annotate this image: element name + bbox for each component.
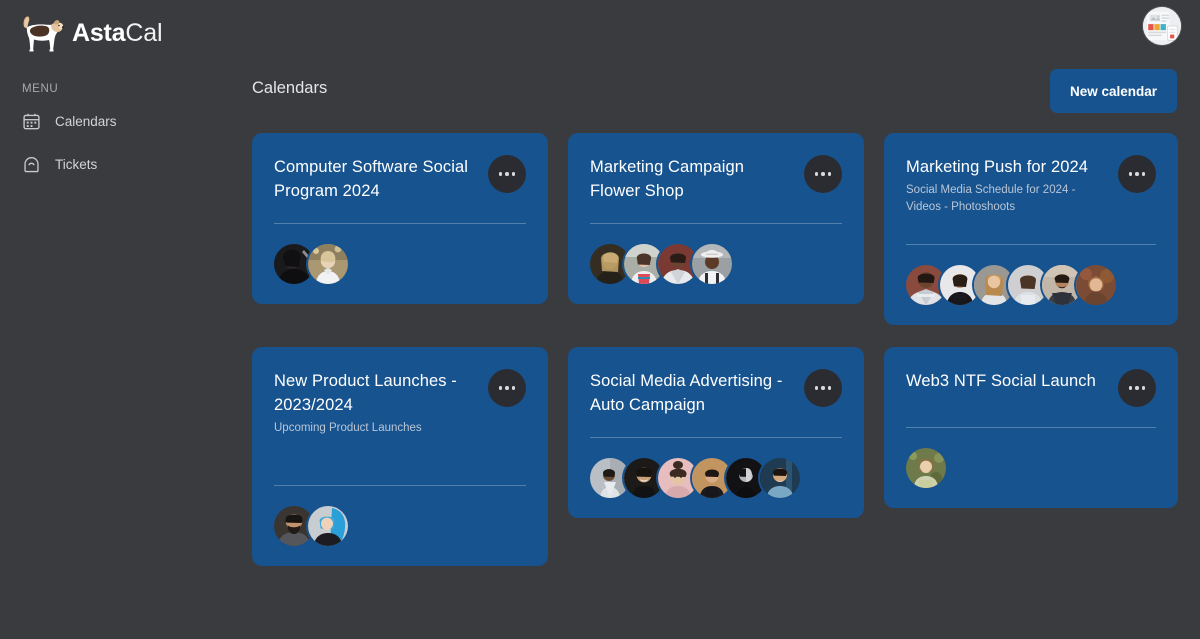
- brand-name-bold: Asta: [72, 19, 125, 47]
- card-title: Marketing Push for 2024: [906, 155, 1108, 179]
- avatar[interactable]: [308, 506, 348, 546]
- more-options-icon: [1135, 386, 1139, 390]
- more-options-icon: [512, 172, 516, 176]
- card-member-avatars: [906, 448, 1156, 488]
- card-more-options-button[interactable]: [1118, 155, 1156, 193]
- more-options-icon: [505, 172, 509, 176]
- brand-name-light: Cal: [125, 19, 162, 47]
- more-options-icon: [505, 386, 509, 390]
- main-header: Calendars New calendar: [232, 60, 1200, 122]
- brand[interactable]: AstaCal: [0, 0, 232, 56]
- more-options-icon: [1135, 172, 1139, 176]
- card-member-avatars: [590, 244, 842, 284]
- ticket-icon: [22, 155, 41, 174]
- card-title: Computer Software Social Program 2024: [274, 155, 478, 203]
- card-subtitle: Social Media Schedule for 2024 - Videos …: [906, 182, 1108, 216]
- calendar-card[interactable]: Web3 NTF Social Launch: [884, 347, 1178, 508]
- avatar[interactable]: [308, 244, 348, 284]
- card-text: Computer Software Social Program 2024: [274, 151, 478, 203]
- card-title: Social Media Advertising - Auto Campaign: [590, 369, 794, 417]
- card-member-avatars: [274, 244, 526, 284]
- more-options-icon: [815, 172, 819, 176]
- new-calendar-button[interactable]: New calendar: [1050, 69, 1177, 113]
- card-header: Marketing Push for 2024 Social Media Sch…: [906, 151, 1156, 216]
- more-options-icon: [828, 172, 832, 176]
- card-text: Marketing Push for 2024 Social Media Sch…: [906, 151, 1108, 216]
- card-text: Social Media Advertising - Auto Campaign: [590, 365, 794, 417]
- avatar[interactable]: [906, 448, 946, 488]
- more-options-icon: [1129, 172, 1133, 176]
- calendar-card-grid: Computer Software Social Program 2024: [252, 133, 1178, 566]
- card-title: New Product Launches - 2023/2024: [274, 369, 478, 417]
- card-title: Web3 NTF Social Launch: [906, 369, 1096, 393]
- more-options-icon: [499, 386, 503, 390]
- card-member-avatars: [906, 265, 1156, 305]
- sidebar-item-calendars-label: Calendars: [55, 114, 117, 129]
- sidebar-item-tickets-label: Tickets: [55, 157, 97, 172]
- calendar-card[interactable]: Computer Software Social Program 2024: [252, 133, 548, 304]
- more-options-icon: [821, 172, 825, 176]
- card-more-options-button[interactable]: [488, 369, 526, 407]
- main-content: Calendars New calendar Computer Software…: [232, 0, 1200, 639]
- avatar[interactable]: [692, 244, 732, 284]
- card-divider: [906, 427, 1156, 428]
- more-options-icon: [499, 172, 503, 176]
- calendar-icon: [22, 112, 41, 131]
- sidebar: AstaCal MENU Calendars Tickets: [0, 0, 232, 639]
- card-divider: [906, 244, 1156, 245]
- sidebar-item-tickets[interactable]: Tickets: [0, 147, 232, 181]
- page-title: Calendars: [252, 79, 327, 98]
- card-text: Web3 NTF Social Launch: [906, 365, 1096, 393]
- brand-name: AstaCal: [72, 19, 162, 48]
- calendar-card[interactable]: Marketing Campaign Flower Shop: [568, 133, 864, 304]
- card-title: Marketing Campaign Flower Shop: [590, 155, 794, 203]
- card-header: Computer Software Social Program 2024: [274, 151, 526, 203]
- more-options-icon: [512, 386, 516, 390]
- card-text: Marketing Campaign Flower Shop: [590, 151, 794, 203]
- card-member-avatars: [590, 458, 842, 498]
- sidebar-item-calendars[interactable]: Calendars: [0, 104, 232, 138]
- more-options-icon: [1129, 386, 1133, 390]
- dog-terrier-logo: [16, 12, 64, 54]
- avatar[interactable]: [760, 458, 800, 498]
- more-options-icon: [1142, 172, 1146, 176]
- card-divider: [274, 485, 526, 486]
- card-subtitle: Upcoming Product Launches: [274, 420, 478, 437]
- card-divider: [274, 223, 526, 224]
- more-options-icon: [815, 386, 819, 390]
- card-header: New Product Launches - 2023/2024 Upcomin…: [274, 365, 526, 437]
- more-options-icon: [828, 386, 832, 390]
- card-more-options-button[interactable]: [1118, 369, 1156, 407]
- card-header: Marketing Campaign Flower Shop: [590, 151, 842, 203]
- calendar-card[interactable]: Social Media Advertising - Auto Campaign: [568, 347, 864, 518]
- more-options-icon: [821, 386, 825, 390]
- card-member-avatars: [274, 506, 526, 546]
- card-more-options-button[interactable]: [804, 155, 842, 193]
- menu-section-label: MENU: [22, 83, 232, 95]
- card-more-options-button[interactable]: [488, 155, 526, 193]
- avatar[interactable]: [1076, 265, 1116, 305]
- card-more-options-button[interactable]: [804, 369, 842, 407]
- card-header: Social Media Advertising - Auto Campaign: [590, 365, 842, 417]
- card-text: New Product Launches - 2023/2024 Upcomin…: [274, 365, 478, 437]
- card-header: Web3 NTF Social Launch: [906, 365, 1156, 407]
- calendar-card[interactable]: New Product Launches - 2023/2024 Upcomin…: [252, 347, 548, 566]
- more-options-icon: [1142, 386, 1146, 390]
- calendar-card[interactable]: Marketing Push for 2024 Social Media Sch…: [884, 133, 1178, 325]
- card-divider: [590, 223, 842, 224]
- card-divider: [590, 437, 842, 438]
